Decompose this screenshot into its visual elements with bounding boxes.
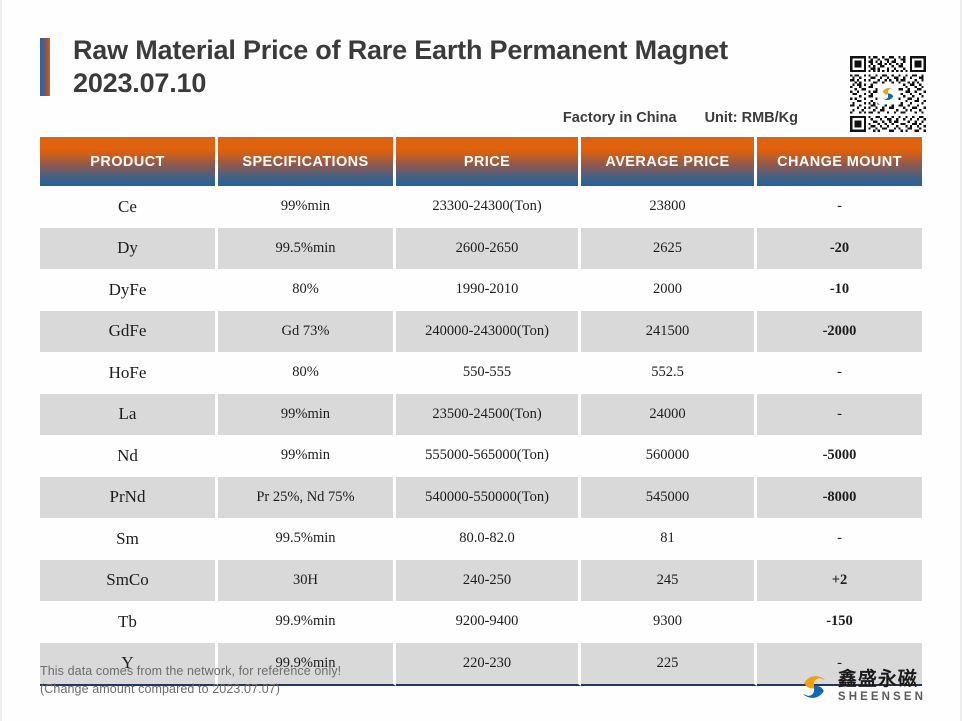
table-row: Sm99.5%min80.0-82.081-	[40, 518, 922, 560]
cell-product: SmCo	[40, 560, 218, 602]
cell-price: 240000-243000(Ton)	[396, 311, 581, 353]
cell-change-mount: -8000	[757, 477, 922, 519]
table-row: SmCo30H240-250245+2	[40, 560, 922, 602]
cell-average-price: 24000	[581, 394, 757, 436]
brand-logo: 鑫盛永磁 SHEENSEN	[797, 670, 926, 704]
table-row: HoFe80%550-555552.5-	[40, 352, 922, 394]
brand-name-cn: 鑫盛永磁	[838, 670, 926, 689]
cell-average-price: 225	[581, 643, 757, 687]
cell-average-price: 545000	[581, 477, 757, 519]
table-row: DyFe80%1990-20102000-10	[40, 269, 922, 311]
cell-product: Nd	[40, 435, 218, 477]
cell-price: 240-250	[396, 560, 581, 602]
brand-name-en: SHEENSEN	[838, 692, 926, 704]
cell-price: 2600-2650	[396, 228, 581, 270]
cell-specifications: 80%	[218, 352, 396, 394]
cell-price: 80.0-82.0	[396, 518, 581, 560]
page-title-line-1: Raw Material Price of Rare Earth Permane…	[73, 34, 773, 67]
cell-price: 9200-9400	[396, 601, 581, 643]
column-header-specifications[interactable]: SPECIFICATIONS	[218, 137, 396, 186]
page-header: Raw Material Price of Rare Earth Permane…	[40, 34, 926, 134]
cell-specifications: Gd 73%	[218, 311, 396, 353]
cell-average-price: 9300	[581, 601, 757, 643]
cell-average-price: 23800	[581, 186, 757, 228]
cell-change-mount: -2000	[757, 311, 922, 353]
cell-specifications: 99.9%min	[218, 601, 396, 643]
table-row: Dy99.5%min2600-26502625-20	[40, 228, 922, 270]
cell-price: 540000-550000(Ton)	[396, 477, 581, 519]
table-row: GdFeGd 73%240000-243000(Ton)241500-2000	[40, 311, 922, 353]
table-row: Ce99%min23300-24300(Ton)23800-	[40, 186, 922, 228]
cell-specifications: 80%	[218, 269, 396, 311]
qr-code-icon[interactable]	[850, 56, 926, 132]
subtitle-row: Factory in China Unit: RMB/Kg	[563, 110, 798, 126]
cell-specifications: 99%min	[218, 394, 396, 436]
cell-change-mount: -	[757, 186, 922, 228]
cell-price: 555000-565000(Ton)	[396, 435, 581, 477]
footer-note-line-2: (Change amount compared to 2023.07.07)	[40, 680, 560, 698]
table-row: La99%min23500-24500(Ton)24000-	[40, 394, 922, 436]
footer-note-line-1: This data comes from the network, for re…	[40, 662, 560, 680]
column-header-product[interactable]: PRODUCT	[40, 137, 218, 186]
cell-product: La	[40, 394, 218, 436]
cell-specifications: 99%min	[218, 435, 396, 477]
factory-label: Factory in China	[563, 110, 677, 126]
cell-average-price: 241500	[581, 311, 757, 353]
price-table-page: Raw Material Price of Rare Earth Permane…	[0, 0, 962, 721]
title-block: Raw Material Price of Rare Earth Permane…	[73, 34, 773, 100]
cell-average-price: 81	[581, 518, 757, 560]
cell-change-mount: -	[757, 394, 922, 436]
cell-average-price: 245	[581, 560, 757, 602]
cell-change-mount: -	[757, 518, 922, 560]
cell-average-price: 560000	[581, 435, 757, 477]
cell-specifications: 99%min	[218, 186, 396, 228]
sheensen-s-logo-icon	[797, 670, 831, 704]
unit-label: Unit: RMB/Kg	[705, 110, 798, 126]
sheensen-s-mark-small	[879, 85, 898, 104]
cell-price: 550-555	[396, 352, 581, 394]
cell-product: DyFe	[40, 269, 218, 311]
cell-change-mount: -20	[757, 228, 922, 270]
cell-product: Sm	[40, 518, 218, 560]
table-body: Ce99%min23300-24300(Ton)23800-Dy99.5%min…	[40, 186, 922, 686]
cell-average-price: 2000	[581, 269, 757, 311]
cell-change-mount: -	[757, 352, 922, 394]
footer-note: This data comes from the network, for re…	[40, 662, 560, 698]
cell-product: Dy	[40, 228, 218, 270]
cell-specifications: 30H	[218, 560, 396, 602]
qr-center-brand-icon	[878, 84, 899, 105]
cell-product: Tb	[40, 601, 218, 643]
cell-change-mount: -10	[757, 269, 922, 311]
cell-specifications: 99.5%min	[218, 228, 396, 270]
table-header-row: PRODUCT SPECIFICATIONS PRICE AVERAGE PRI…	[40, 137, 922, 186]
cell-change-mount: -150	[757, 601, 922, 643]
cell-product: GdFe	[40, 311, 218, 353]
table-row: PrNdPr 25%, Nd 75%540000-550000(Ton)5450…	[40, 477, 922, 519]
cell-change-mount: -5000	[757, 435, 922, 477]
table-row: Nd99%min555000-565000(Ton)560000-5000	[40, 435, 922, 477]
page-title-line-2: 2023.07.10	[73, 67, 773, 100]
cell-average-price: 2625	[581, 228, 757, 270]
column-header-change-mount[interactable]: CHANGE MOUNT	[757, 137, 922, 186]
brand-text: 鑫盛永磁 SHEENSEN	[838, 670, 926, 704]
table-head: PRODUCT SPECIFICATIONS PRICE AVERAGE PRI…	[40, 137, 922, 186]
cell-price: 1990-2010	[396, 269, 581, 311]
cell-change-mount: +2	[757, 560, 922, 602]
column-header-price[interactable]: PRICE	[396, 137, 581, 186]
cell-product: Ce	[40, 186, 218, 228]
cell-product: HoFe	[40, 352, 218, 394]
title-accent-bar	[40, 38, 50, 96]
column-header-average-price[interactable]: AVERAGE PRICE	[581, 137, 757, 186]
cell-price: 23500-24500(Ton)	[396, 394, 581, 436]
cell-price: 23300-24300(Ton)	[396, 186, 581, 228]
cell-specifications: Pr 25%, Nd 75%	[218, 477, 396, 519]
cell-product: PrNd	[40, 477, 218, 519]
cell-average-price: 552.5	[581, 352, 757, 394]
cell-specifications: 99.5%min	[218, 518, 396, 560]
price-table: PRODUCT SPECIFICATIONS PRICE AVERAGE PRI…	[40, 137, 922, 686]
table-row: Tb99.9%min9200-94009300-150	[40, 601, 922, 643]
